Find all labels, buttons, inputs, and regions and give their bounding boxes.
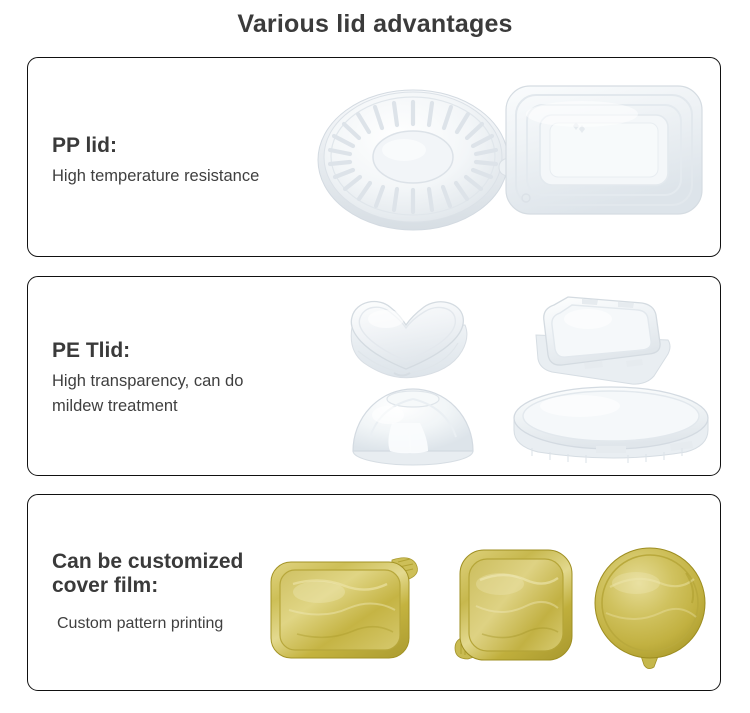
page-title: Various lid advantages xyxy=(0,10,750,39)
panel-cover-film-text: Can be customized cover film: Custom pat… xyxy=(52,550,243,636)
panel-cover-film-description: Custom pattern printing xyxy=(52,604,243,636)
panel-pe-lid-heading: PE Tlid: xyxy=(52,339,243,363)
rectangular-lid-image xyxy=(490,70,710,230)
panel-pe-lid-description: High transparency, can do mildew treatme… xyxy=(52,369,243,419)
panel-pp-lid-text: PP lid: High temperature resistance xyxy=(52,134,259,189)
panel-cover-film: Can be customized cover film: Custom pat… xyxy=(27,494,721,691)
round-ribbed-lid-image xyxy=(316,86,531,231)
panel-cover-film-heading: Can be customized cover film: xyxy=(52,550,243,598)
gold-round-foil-lid-image xyxy=(590,547,715,669)
panel-pe-lid-text: PE Tlid: High transparency, can do milde… xyxy=(52,339,243,419)
square-lid-image xyxy=(526,285,676,390)
dome-lid-image xyxy=(348,377,478,469)
heart-shaped-lid-image xyxy=(338,285,478,385)
panel-pe-lid: PE Tlid: High transparency, can do milde… xyxy=(27,276,721,476)
panel-pp-lid-heading: PP lid: xyxy=(52,134,259,158)
gold-square-foil-lid-image xyxy=(452,544,582,669)
oval-lid-image xyxy=(510,382,710,464)
panel-pp-lid: PP lid: High temperature resistance xyxy=(27,57,721,257)
panel-pp-lid-description: High temperature resistance xyxy=(52,164,259,189)
gold-rectangular-foil-lid-image xyxy=(267,548,437,663)
